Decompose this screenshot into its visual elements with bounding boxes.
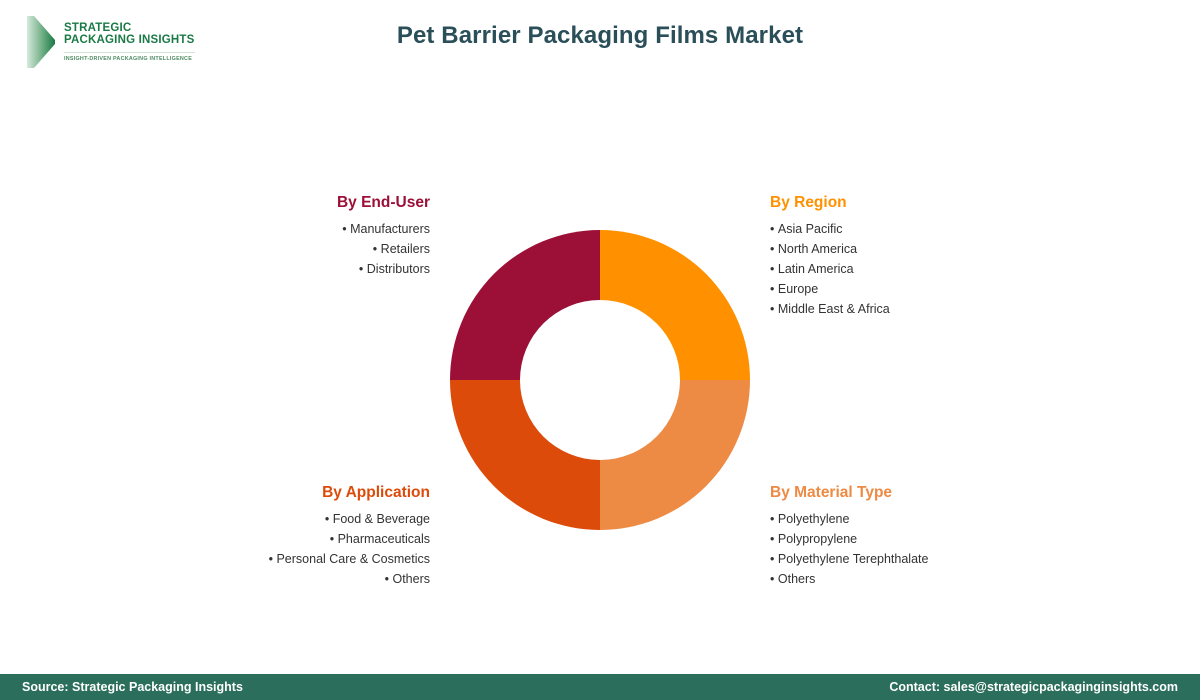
list-item-label: Others bbox=[392, 572, 430, 586]
bullet-icon: • bbox=[342, 222, 346, 236]
list-item-label: Polyethylene Terephthalate bbox=[778, 552, 929, 566]
list-item-label: Polypropylene bbox=[778, 532, 857, 546]
segment-end-user-title: By End-User bbox=[130, 193, 430, 213]
bullet-icon: • bbox=[770, 222, 774, 236]
list-item-label: Middle East & Africa bbox=[778, 302, 890, 316]
list-item-label: North America bbox=[778, 242, 857, 256]
bullet-icon: • bbox=[385, 572, 389, 586]
bullet-icon: • bbox=[770, 572, 774, 586]
list-item: • Latin America bbox=[770, 259, 1090, 279]
infographic-page: STRATEGIC PACKAGING INSIGHTS INSIGHT-DRI… bbox=[0, 0, 1200, 700]
list-item-label: Polyethylene bbox=[778, 512, 850, 526]
segment-material-type-title: By Material Type bbox=[770, 483, 1100, 503]
bullet-icon: • bbox=[770, 512, 774, 526]
bullet-icon: • bbox=[770, 242, 774, 256]
list-item: • North America bbox=[770, 239, 1090, 259]
segment-region-list: • Asia Pacific • North America • Latin A… bbox=[770, 219, 1090, 319]
segment-end-user-list: • Manufacturers • Retailers • Distributo… bbox=[130, 219, 430, 279]
list-item-label: Latin America bbox=[778, 262, 854, 276]
bullet-icon: • bbox=[359, 262, 363, 276]
bullet-icon: • bbox=[269, 552, 273, 566]
brand-tagline: INSIGHT-DRIVEN PACKAGING INTELLIGENCE bbox=[64, 52, 195, 63]
footer-bar: Source: Strategic Packaging Insights Con… bbox=[0, 674, 1200, 700]
footer-contact[interactable]: Contact: sales@strategicpackaginginsight… bbox=[889, 680, 1178, 694]
footer-source: Source: Strategic Packaging Insights bbox=[22, 680, 243, 694]
bullet-icon: • bbox=[770, 532, 774, 546]
list-item-label: Others bbox=[778, 572, 816, 586]
segment-application-list: • Food & Beverage • Pharmaceuticals • Pe… bbox=[110, 509, 430, 589]
segment-region: By Region • Asia Pacific • North America… bbox=[770, 193, 1090, 319]
list-item-label: Distributors bbox=[367, 262, 430, 276]
segment-material-type-list: • Polyethylene • Polypropylene • Polyeth… bbox=[770, 509, 1100, 589]
list-item: • Food & Beverage bbox=[110, 509, 430, 529]
list-item: • Personal Care & Cosmetics bbox=[110, 549, 430, 569]
bullet-icon: • bbox=[325, 512, 329, 526]
list-item-label: Asia Pacific bbox=[778, 222, 843, 236]
bullet-icon: • bbox=[770, 262, 774, 276]
list-item: • Others bbox=[770, 569, 1100, 589]
list-item-label: Personal Care & Cosmetics bbox=[276, 552, 430, 566]
list-item: • Polyethylene bbox=[770, 509, 1100, 529]
list-item-label: Pharmaceuticals bbox=[338, 532, 430, 546]
list-item: • Pharmaceuticals bbox=[110, 529, 430, 549]
page-title: Pet Barrier Packaging Films Market bbox=[0, 22, 1200, 50]
donut-chart bbox=[450, 230, 750, 530]
segment-application: By Application • Food & Beverage • Pharm… bbox=[110, 483, 430, 589]
list-item: • Manufacturers bbox=[130, 219, 430, 239]
list-item: • Retailers bbox=[130, 239, 430, 259]
list-item-label: Europe bbox=[778, 282, 818, 296]
donut-hole bbox=[520, 300, 680, 460]
segment-region-title: By Region bbox=[770, 193, 1090, 213]
list-item: • Asia Pacific bbox=[770, 219, 1090, 239]
segment-application-title: By Application bbox=[110, 483, 430, 503]
list-item: • Polyethylene Terephthalate bbox=[770, 549, 1100, 569]
bullet-icon: • bbox=[770, 282, 774, 296]
list-item-label: Food & Beverage bbox=[333, 512, 430, 526]
list-item: • Distributors bbox=[130, 259, 430, 279]
list-item-label: Manufacturers bbox=[350, 222, 430, 236]
bullet-icon: • bbox=[373, 242, 377, 256]
bullet-icon: • bbox=[770, 302, 774, 316]
list-item: • Europe bbox=[770, 279, 1090, 299]
list-item: • Middle East & Africa bbox=[770, 299, 1090, 319]
list-item-label: Retailers bbox=[381, 242, 430, 256]
segment-end-user: By End-User • Manufacturers • Retailers … bbox=[130, 193, 430, 279]
bullet-icon: • bbox=[330, 532, 334, 546]
segment-material-type: By Material Type • Polyethylene • Polypr… bbox=[770, 483, 1100, 589]
bullet-icon: • bbox=[770, 552, 774, 566]
list-item: • Others bbox=[110, 569, 430, 589]
list-item: • Polypropylene bbox=[770, 529, 1100, 549]
